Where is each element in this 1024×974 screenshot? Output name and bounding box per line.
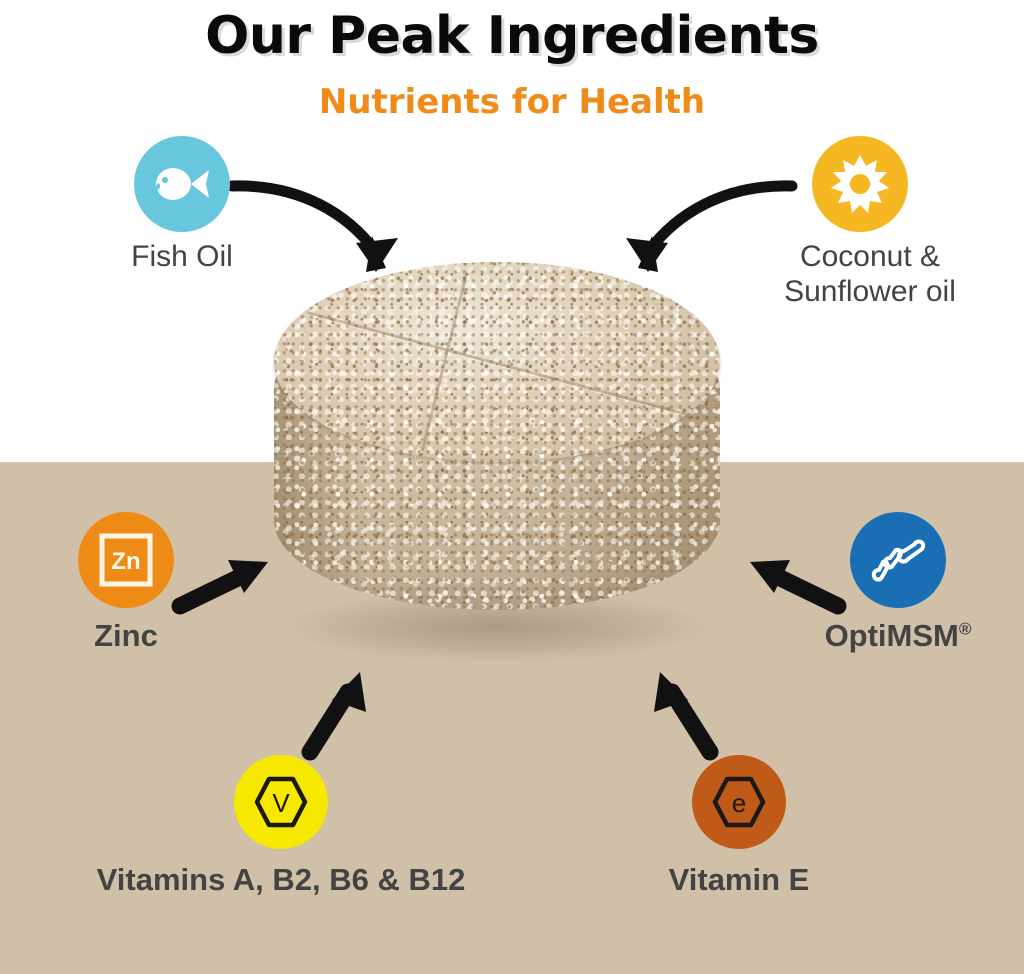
ingredient-label-vitamin-e: Vitamin E — [614, 862, 864, 898]
ingredient-label-zinc: Zinc — [26, 618, 226, 654]
ingredient-label-optimsm: OptiMSM® — [798, 618, 998, 654]
hexagon-e-icon: e — [708, 773, 770, 831]
ingredient-badge-fish-oil[interactable] — [134, 136, 230, 232]
registered-trademark-mark: ® — [959, 620, 972, 639]
fish-icon — [151, 163, 213, 205]
optimsm-label-text: OptiMSM — [825, 618, 959, 653]
hexagon-v-icon: V — [250, 773, 312, 831]
page-subtitle: Nutrients for Health — [0, 82, 1024, 122]
page-title: Our Peak Ingredients — [0, 6, 1024, 66]
joint-bone-icon — [867, 532, 929, 588]
ingredient-badge-vitamins[interactable]: V — [234, 755, 328, 849]
svg-text:Zn: Zn — [111, 548, 140, 575]
ingredient-badge-coconut-sunflower-oil[interactable] — [812, 136, 908, 232]
label-line-1: Coconut & — [800, 240, 940, 273]
ingredient-badge-optimsm[interactable] — [850, 512, 946, 608]
infographic-canvas: Our Peak Ingredients Nutrients for Healt… — [0, 0, 1024, 974]
tablet-top-face — [274, 262, 720, 462]
supplement-tablet — [262, 262, 732, 682]
ingredient-badge-vitamin-e[interactable]: e — [692, 755, 786, 849]
ingredient-label-fish-oil: Fish Oil — [62, 240, 302, 275]
ingredient-label-vitamins: Vitamins A, B2, B6 & B12 — [26, 862, 536, 898]
label-line-2: Sunflower oil — [784, 275, 956, 308]
svg-text:V: V — [272, 788, 290, 818]
ingredient-badge-zinc[interactable]: Zn — [78, 512, 174, 608]
sun-icon — [829, 153, 891, 215]
svg-text:e: e — [732, 788, 746, 818]
ingredient-label-coconut-sunflower-oil: Coconut &Sunflower oil — [740, 240, 1000, 309]
zinc-square-icon: Zn — [98, 532, 154, 588]
